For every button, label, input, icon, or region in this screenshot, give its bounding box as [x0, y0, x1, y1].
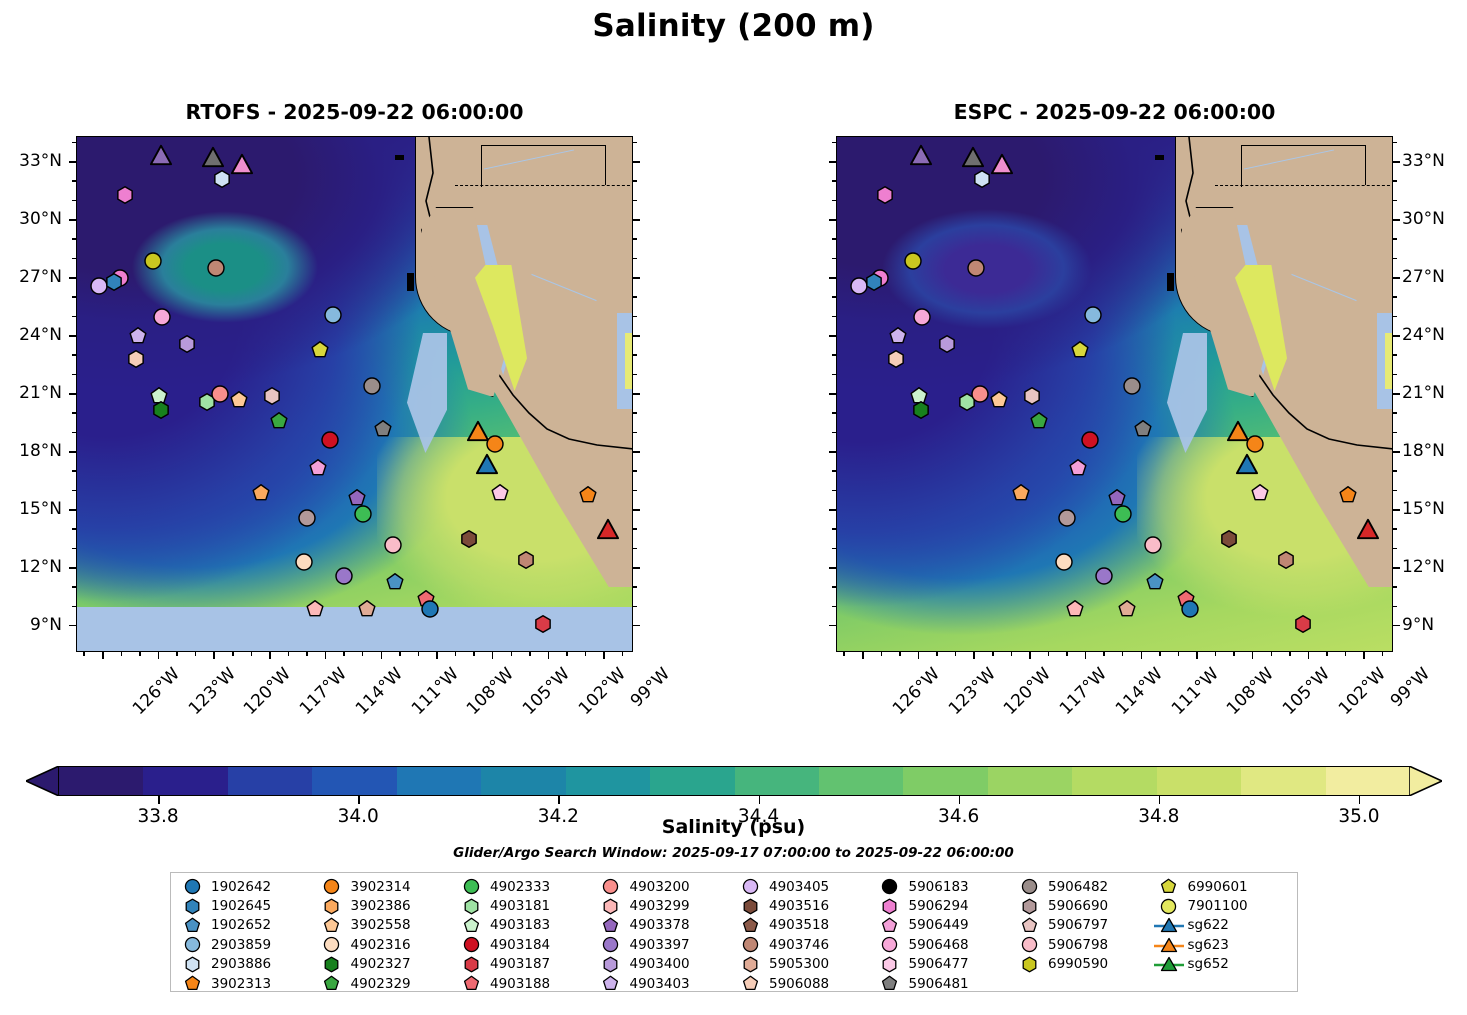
legend-label-1902645: 1902645 — [211, 898, 271, 914]
lat-tick-right-15 — [1393, 509, 1400, 511]
lon-label-114: 114°W — [352, 664, 407, 719]
legend-item-5906477[interactable]: 5906477 — [877, 955, 1017, 974]
lat-minor-tick — [72, 548, 76, 550]
legend-item-6990601[interactable]: 6990601 — [1156, 877, 1296, 896]
legend-item-3902313[interactable]: 3902313 — [179, 974, 319, 993]
lat-minor-tick — [633, 200, 637, 202]
marker-sp040[interactable] — [231, 153, 253, 175]
marker-3902313[interactable] — [579, 486, 596, 503]
legend-label-1902652: 1902652 — [211, 917, 271, 933]
colorbar-segment — [1072, 767, 1157, 795]
legend-label-3902314: 3902314 — [351, 879, 411, 895]
legend-symbol-4903516 — [737, 897, 763, 915]
island-channel — [1155, 155, 1164, 160]
legend-item-4903378[interactable]: 4903378 — [598, 916, 738, 935]
legend-item-4903397[interactable]: 4903397 — [598, 935, 738, 954]
marker-sg672[interactable] — [597, 518, 619, 540]
marker-6990590[interactable] — [145, 252, 162, 269]
lon-label-111: 111°W — [1167, 664, 1222, 719]
legend-item-sg622[interactable]: sg622 — [1156, 916, 1296, 935]
marker-5906482[interactable] — [364, 378, 381, 395]
legend-symbol-4903187 — [458, 955, 484, 973]
lat-minor-tick — [72, 374, 76, 376]
lat-minor-tick — [1393, 200, 1397, 202]
lon-tick-114 — [325, 652, 327, 659]
legend-symbol-sg623 — [1156, 936, 1182, 954]
legend-item-5906449[interactable]: 5906449 — [877, 916, 1017, 935]
lat-minor-tick — [72, 528, 76, 530]
lat-minor-tick — [832, 142, 836, 144]
panel-title-espc: ESPC - 2025-09-22 06:00:00 — [836, 100, 1393, 124]
marker-5905300[interactable] — [1118, 600, 1135, 617]
lon-minor-tick — [399, 652, 401, 656]
lat-tick-left-33 — [69, 161, 76, 163]
lat-tick-right-12 — [1393, 567, 1400, 569]
marker-4903518[interactable] — [1278, 552, 1295, 569]
legend-item-4903400[interactable]: 4903400 — [598, 955, 738, 974]
marker-4902333[interactable] — [354, 505, 371, 522]
legend-item-4903200[interactable]: 4903200 — [598, 877, 738, 896]
marker-4903187[interactable] — [1295, 616, 1312, 633]
marker-4903516[interactable] — [460, 531, 477, 548]
lon-tick-126 — [102, 652, 104, 659]
lon-tick-117 — [269, 652, 271, 659]
colorbar-segment — [143, 767, 228, 795]
marker-3902313[interactable] — [1339, 486, 1356, 503]
marker-2903859[interactable] — [325, 306, 342, 323]
lon-minor-tick — [362, 652, 364, 656]
legend-item-4903403[interactable]: 4903403 — [598, 974, 738, 993]
lat-minor-tick — [832, 606, 836, 608]
marker-5906477[interactable] — [492, 484, 509, 501]
legend-label-5906482: 5906482 — [1048, 879, 1108, 895]
colorbar-tick-34.8 — [1159, 796, 1161, 804]
legend-label-5906294: 5906294 — [909, 898, 969, 914]
lon-minor-tick — [139, 652, 141, 656]
legend-symbol-5906482 — [1016, 878, 1042, 896]
marker-4903400[interactable] — [178, 335, 195, 352]
lon-minor-tick — [881, 652, 883, 656]
state-border-horizontal — [1241, 145, 1365, 146]
marker-4903397[interactable] — [336, 567, 353, 584]
marker-2903859[interactable] — [1085, 306, 1102, 323]
lat-minor-tick — [1393, 374, 1397, 376]
lat-tick-left-12 — [829, 567, 836, 569]
legend-label-5906690: 5906690 — [1048, 898, 1108, 914]
legend-label-4903188: 4903188 — [490, 976, 550, 992]
colorbar-segment — [988, 767, 1073, 795]
marker-3902558[interactable] — [230, 391, 247, 408]
marker-4902327[interactable] — [152, 401, 169, 418]
lat-minor-tick — [1393, 470, 1397, 472]
marker-5906482[interactable] — [1124, 378, 1141, 395]
lon-minor-tick — [936, 652, 938, 656]
legend-symbol-4903403 — [598, 975, 624, 993]
legend-label-4903518: 4903518 — [769, 917, 829, 933]
legend-item-5906294[interactable]: 5906294 — [877, 896, 1017, 915]
lat-minor-tick — [633, 374, 637, 376]
marker-5906797[interactable] — [1023, 388, 1040, 405]
marker-5906798[interactable] — [384, 536, 401, 553]
map-rtofs[interactable] — [76, 136, 633, 652]
lat-tick-right-15 — [633, 509, 640, 511]
legend-symbol-4903400 — [598, 955, 624, 973]
lon-minor-tick — [343, 652, 345, 656]
legend-item-5905300[interactable]: 5905300 — [737, 955, 877, 974]
legend-symbol-4902333 — [458, 878, 484, 896]
marker-5906294[interactable] — [877, 187, 894, 204]
marker-6990590[interactable] — [905, 252, 922, 269]
marker-2903886[interactable] — [973, 170, 990, 187]
colorbar-segment — [650, 767, 735, 795]
lat-minor-tick — [832, 548, 836, 550]
legend-item-sg623[interactable]: sg623 — [1156, 935, 1296, 954]
lon-label-117: 117°W — [1056, 664, 1111, 719]
lon-tick-99 — [603, 652, 605, 659]
lat-tick-left-27 — [69, 277, 76, 279]
legend-item-4903518[interactable]: 4903518 — [737, 916, 877, 935]
legend-symbol-5906798 — [1016, 936, 1042, 954]
marker-4902327[interactable] — [912, 401, 929, 418]
marker-4903187[interactable] — [535, 616, 552, 633]
colorbar-tick-34.6 — [959, 796, 961, 804]
lon-label-102: 102°W — [575, 664, 630, 719]
legend-label-6990590: 6990590 — [1048, 956, 1108, 972]
marker-3902386[interactable] — [1012, 484, 1029, 501]
marker-4903378[interactable] — [349, 490, 366, 507]
state-border-horizontal — [481, 145, 605, 146]
legend-symbol-5906449 — [877, 916, 903, 934]
legend-item-5906690[interactable]: 5906690 — [1016, 896, 1156, 915]
legend-item-5906468[interactable]: 5906468 — [877, 935, 1017, 954]
marker-5906690[interactable] — [1059, 509, 1076, 526]
marker-5906088[interactable] — [888, 351, 905, 368]
marker-6990601[interactable] — [312, 341, 329, 358]
lon-tick-108 — [436, 652, 438, 659]
lon-tick-102 — [548, 652, 550, 659]
lon-minor-tick — [511, 652, 513, 656]
legend-label-2903886: 2903886 — [211, 956, 271, 972]
lat-label-15: 15°N — [0, 499, 62, 519]
marker-sg672[interactable] — [1357, 518, 1379, 540]
legend-label-sg652: sg652 — [1188, 956, 1229, 972]
marker-5906477[interactable] — [1252, 484, 1269, 501]
marker-4903400[interactable] — [938, 335, 955, 352]
marker-5906294[interactable] — [117, 187, 134, 204]
marker-5906468[interactable] — [914, 308, 931, 325]
colorbar-segment — [481, 767, 566, 795]
legend-item-3902386[interactable]: 3902386 — [319, 896, 459, 915]
legend-label-2903859: 2903859 — [211, 937, 271, 953]
map-espc[interactable] — [836, 136, 1393, 652]
lat-minor-tick — [1393, 490, 1397, 492]
lon-minor-tick — [473, 652, 475, 656]
legend-item-4903405[interactable]: 4903405 — [737, 877, 877, 896]
lat-label-21: 21°N — [0, 383, 62, 403]
marker-4902329[interactable] — [271, 413, 288, 430]
lat-label-18: 18°N — [0, 441, 62, 461]
marker-4902316[interactable] — [1055, 554, 1072, 571]
marker-3902386[interactable] — [252, 484, 269, 501]
marker-4902333[interactable] — [1114, 505, 1131, 522]
legend-item-sg652[interactable]: sg652 — [1156, 955, 1296, 974]
marker-5906798[interactable] — [1144, 536, 1161, 553]
lat-label-12: 12°N — [0, 557, 62, 577]
legend-item-5906482[interactable]: 5906482 — [1016, 877, 1156, 896]
lat-minor-tick — [633, 470, 637, 472]
lon-label-108: 108°W — [1223, 664, 1278, 719]
legend-label-7901100: 7901100 — [1188, 898, 1248, 914]
lon-minor-tick — [232, 652, 234, 656]
colorbar-extend-max — [1409, 766, 1442, 796]
legend-item-5906088[interactable]: 5906088 — [737, 974, 877, 993]
marker-3902314[interactable] — [1246, 436, 1263, 453]
legend-label-4903378: 4903378 — [630, 917, 690, 933]
marker-4903746[interactable] — [208, 260, 225, 277]
lat-minor-tick — [1393, 606, 1397, 608]
marker-sp058[interactable] — [202, 146, 224, 168]
lon-label-102: 102°W — [1335, 664, 1390, 719]
legend-item-1902645[interactable]: 1902645 — [179, 896, 319, 915]
lat-tick-right-27 — [633, 277, 640, 279]
legend-item-4903187[interactable]: 4903187 — [458, 955, 598, 974]
marker-4903403[interactable] — [890, 328, 907, 345]
colorbar-segment — [59, 767, 144, 795]
legend-symbol-sg652 — [1156, 955, 1182, 973]
legend-item-4903188[interactable]: 4903188 — [458, 974, 598, 993]
legend-symbol-5906477 — [877, 955, 903, 973]
marker-4902316[interactable] — [295, 554, 312, 571]
lat-minor-tick — [72, 490, 76, 492]
legend-symbol-4903518 — [737, 916, 763, 934]
marker-4903516[interactable] — [1220, 531, 1237, 548]
lat-tick-left-24 — [829, 335, 836, 337]
legend-item-4903181[interactable]: 4903181 — [458, 896, 598, 915]
legend-symbol-4903200 — [598, 878, 624, 896]
legend-symbol-6990601 — [1156, 878, 1182, 896]
legend-symbol-5906088 — [737, 975, 763, 993]
marker-sp058[interactable] — [962, 146, 984, 168]
lat-tick-left-21 — [829, 393, 836, 395]
lon-minor-tick — [288, 652, 290, 656]
legend-symbol-3902313 — [179, 975, 205, 993]
marker-1902652[interactable] — [386, 573, 403, 590]
legend-symbol-1902642 — [179, 878, 205, 896]
legend-item-3902558[interactable]: 3902558 — [319, 916, 459, 935]
marker-3902558[interactable] — [990, 391, 1007, 408]
legend-item-4902329[interactable]: 4902329 — [319, 974, 459, 993]
legend-symbol-1902652 — [179, 916, 205, 934]
colorbar-segment — [566, 767, 651, 795]
legend-item-2903886[interactable]: 2903886 — [179, 955, 319, 974]
legend-item-4902316[interactable]: 4902316 — [319, 935, 459, 954]
island-cedros — [407, 273, 414, 291]
marker-4903184[interactable] — [1081, 432, 1098, 449]
marker-4902329[interactable] — [1031, 413, 1048, 430]
marker-1902642[interactable] — [421, 600, 438, 617]
lat-label-right-27: 27°N — [1402, 267, 1445, 287]
lon-label-114: 114°W — [1112, 664, 1167, 719]
lon-minor-tick — [1011, 652, 1013, 656]
lon-label-111: 111°W — [407, 664, 462, 719]
legend-symbol-3902558 — [319, 916, 345, 934]
legend-item-1902652[interactable]: 1902652 — [179, 916, 319, 935]
marker-1902642[interactable] — [1181, 600, 1198, 617]
marker-4903746[interactable] — [968, 260, 985, 277]
lon-label-120: 120°W — [1000, 664, 1055, 719]
marker-5906481[interactable] — [1135, 420, 1152, 437]
marker-4903299[interactable] — [306, 600, 323, 617]
lat-minor-tick — [832, 412, 836, 414]
legend-item-1902642[interactable]: 1902642 — [179, 877, 319, 896]
state-border-vertical-2 — [1365, 145, 1366, 185]
marker-1902645[interactable] — [106, 273, 123, 290]
lat-minor-tick — [1393, 548, 1397, 550]
marker-sp013[interactable] — [910, 144, 932, 166]
lat-minor-tick — [633, 432, 637, 434]
lat-tick-left-30 — [829, 219, 836, 221]
legend-symbol-4903397 — [598, 936, 624, 954]
lat-tick-right-27 — [1393, 277, 1400, 279]
legend-symbol-5906690 — [1016, 897, 1042, 915]
lon-minor-tick — [455, 652, 457, 656]
legend-item-5906481[interactable]: 5906481 — [877, 974, 1017, 993]
lon-minor-tick — [1103, 652, 1105, 656]
marker-1902652[interactable] — [1146, 573, 1163, 590]
lat-label-right-15: 15°N — [1402, 499, 1445, 519]
lon-tick-120 — [213, 652, 215, 659]
legend-symbol-3902386 — [319, 897, 345, 915]
legend-item-3902314[interactable]: 3902314 — [319, 877, 459, 896]
lat-tick-right-33 — [633, 161, 640, 163]
lon-label-117: 117°W — [296, 664, 351, 719]
colorbar-label: Salinity (psu) — [0, 816, 1467, 838]
legend-symbol-4903188 — [458, 975, 484, 993]
lat-tick-right-24 — [633, 335, 640, 337]
lon-minor-tick — [992, 652, 994, 656]
lat-minor-tick — [832, 296, 836, 298]
marker-1902645[interactable] — [866, 273, 883, 290]
marker-2903886[interactable] — [213, 170, 230, 187]
marker-6990601[interactable] — [1072, 341, 1089, 358]
legend-item-4903516[interactable]: 4903516 — [737, 896, 877, 915]
marker-sp013[interactable] — [150, 144, 172, 166]
legend-item-4903184[interactable]: 4903184 — [458, 935, 598, 954]
marker-4903403[interactable] — [130, 328, 147, 345]
lat-minor-tick — [72, 354, 76, 356]
lat-minor-tick — [1393, 296, 1397, 298]
lon-label-99: 99°W — [627, 664, 674, 711]
lat-minor-tick — [633, 548, 637, 550]
lat-minor-tick — [633, 238, 637, 240]
marker-5906797[interactable] — [263, 388, 280, 405]
lat-minor-tick — [832, 200, 836, 202]
marker-4903184[interactable] — [321, 432, 338, 449]
lon-minor-tick — [1345, 652, 1347, 656]
lat-tick-right-30 — [633, 219, 640, 221]
marker-5906449[interactable] — [310, 459, 327, 476]
legend-item-4903746[interactable]: 4903746 — [737, 935, 877, 954]
lat-minor-tick — [72, 142, 76, 144]
legend-label-3902558: 3902558 — [351, 917, 411, 933]
colorbar-segment — [819, 767, 904, 795]
lat-tick-right-9 — [1393, 625, 1400, 627]
marker-4903299[interactable] — [1066, 600, 1083, 617]
lon-tick-99 — [1363, 652, 1365, 659]
lon-minor-tick — [251, 652, 253, 656]
marker-5906449[interactable] — [1070, 459, 1087, 476]
marker-sg622[interactable] — [476, 453, 498, 475]
lat-label-24: 24°N — [0, 325, 62, 345]
legend-item-7901100[interactable]: 7901100 — [1156, 896, 1296, 915]
legend-item-4902327[interactable]: 4902327 — [319, 955, 459, 974]
lat-tick-left-27 — [829, 277, 836, 279]
lat-tick-left-15 — [69, 509, 76, 511]
legend-label-5906449: 5906449 — [909, 917, 969, 933]
lat-minor-tick — [633, 490, 637, 492]
lat-minor-tick — [633, 258, 637, 260]
legend-symbol-4903746 — [737, 936, 763, 954]
marker-4903378[interactable] — [1109, 490, 1126, 507]
legend-label-5906183: 5906183 — [909, 879, 969, 895]
marker-4903200[interactable] — [972, 386, 989, 403]
colorbar-segment — [397, 767, 482, 795]
lon-minor-tick — [195, 652, 197, 656]
lon-tick-108 — [1196, 652, 1198, 659]
lat-minor-tick — [1393, 238, 1397, 240]
lat-label-27: 27°N — [0, 267, 62, 287]
lat-tick-right-9 — [633, 625, 640, 627]
legend-item-5906798[interactable]: 5906798 — [1016, 935, 1156, 954]
legend-item-2903859[interactable]: 2903859 — [179, 935, 319, 954]
marker-sg622[interactable] — [1236, 453, 1258, 475]
marker-4903200[interactable] — [212, 386, 229, 403]
legend-item-4903299[interactable]: 4903299 — [598, 896, 738, 915]
colorbar-segment — [1326, 767, 1411, 795]
marker-3902314[interactable] — [486, 436, 503, 453]
legend-label-5906477: 5906477 — [909, 956, 969, 972]
legend-item-5906183[interactable]: 5906183 — [877, 877, 1017, 896]
marker-5906088[interactable] — [128, 351, 145, 368]
legend-item-4902333[interactable]: 4902333 — [458, 877, 598, 896]
legend-spacer — [1016, 974, 1156, 993]
lat-label-right-12: 12°N — [1402, 557, 1445, 577]
lat-minor-tick — [72, 200, 76, 202]
legend-label-4903183: 4903183 — [490, 917, 550, 933]
legend-grid: 1902642 3902314 4902333 4903200 4903405 … — [171, 873, 1297, 991]
legend-item-4903183[interactable]: 4903183 — [458, 916, 598, 935]
legend-label-4903200: 4903200 — [630, 879, 690, 895]
legend-item-6990590[interactable]: 6990590 — [1016, 955, 1156, 974]
marker-4903397[interactable] — [1096, 567, 1113, 584]
marker-4903518[interactable] — [518, 552, 535, 569]
lon-tick-102 — [1308, 652, 1310, 659]
legend-symbol-4903184 — [458, 936, 484, 954]
marker-5906690[interactable] — [299, 509, 316, 526]
marker-5905300[interactable] — [358, 600, 375, 617]
marker-5906468[interactable] — [154, 308, 171, 325]
legend-item-5906797[interactable]: 5906797 — [1016, 916, 1156, 935]
lat-minor-tick — [832, 316, 836, 318]
lon-minor-tick — [306, 652, 308, 656]
marker-5906481[interactable] — [375, 420, 392, 437]
lon-minor-tick — [1122, 652, 1124, 656]
lat-label-right-30: 30°N — [1402, 209, 1445, 229]
legend-symbol-4903183 — [458, 916, 484, 934]
colorbar-extend-min — [26, 766, 59, 796]
marker-sp040[interactable] — [991, 153, 1013, 175]
lon-minor-tick — [1048, 652, 1050, 656]
